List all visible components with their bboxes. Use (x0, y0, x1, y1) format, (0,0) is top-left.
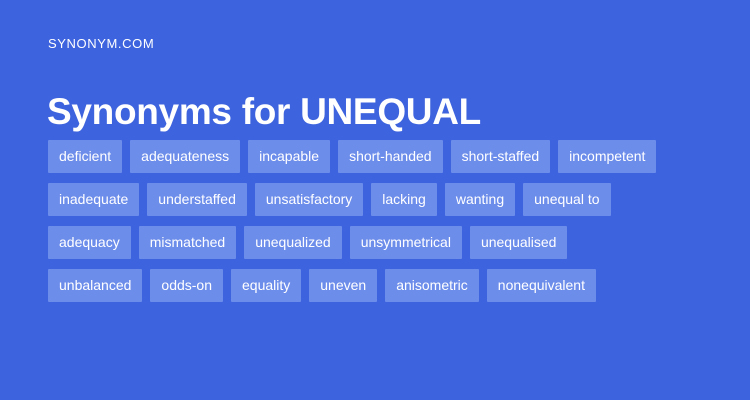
synonym-row: inadequate understaffed unsatisfactory l… (48, 183, 708, 216)
synonym-row: unbalanced odds-on equality uneven aniso… (48, 269, 708, 302)
synonym-tag[interactable]: unsatisfactory (255, 183, 363, 216)
synonym-tag-list: deficient adequateness incapable short-h… (48, 140, 708, 302)
synonym-tag[interactable]: unequalized (244, 226, 342, 259)
synonym-tag[interactable]: deficient (48, 140, 122, 173)
synonym-tag[interactable]: unequalised (470, 226, 568, 259)
synonym-tag[interactable]: equality (231, 269, 301, 302)
synonym-row: deficient adequateness incapable short-h… (48, 140, 708, 173)
synonym-row: adequacy mismatched unequalized unsymmet… (48, 226, 708, 259)
synonym-tag[interactable]: lacking (371, 183, 437, 216)
synonym-tag[interactable]: inadequate (48, 183, 139, 216)
synonym-tag[interactable]: adequateness (130, 140, 240, 173)
synonym-card: SYNONYM.COM Synonyms for UNEQUAL deficie… (0, 0, 750, 400)
synonym-tag[interactable]: wanting (445, 183, 515, 216)
synonym-tag[interactable]: understaffed (147, 183, 247, 216)
synonym-tag[interactable]: uneven (309, 269, 377, 302)
site-brand: SYNONYM.COM (48, 36, 154, 52)
synonym-tag[interactable]: mismatched (139, 226, 236, 259)
synonym-tag[interactable]: incapable (248, 140, 330, 173)
page-title: Synonyms for UNEQUAL (47, 89, 481, 134)
synonym-tag[interactable]: incompetent (558, 140, 656, 173)
synonym-tag[interactable]: nonequivalent (487, 269, 596, 302)
synonym-tag[interactable]: short-staffed (451, 140, 551, 173)
synonym-tag[interactable]: adequacy (48, 226, 131, 259)
synonym-tag[interactable]: odds-on (150, 269, 223, 302)
synonym-tag[interactable]: short-handed (338, 140, 443, 173)
synonym-tag[interactable]: unequal to (523, 183, 610, 216)
synonym-tag[interactable]: unsymmetrical (350, 226, 462, 259)
synonym-tag[interactable]: anisometric (385, 269, 479, 302)
synonym-tag[interactable]: unbalanced (48, 269, 142, 302)
